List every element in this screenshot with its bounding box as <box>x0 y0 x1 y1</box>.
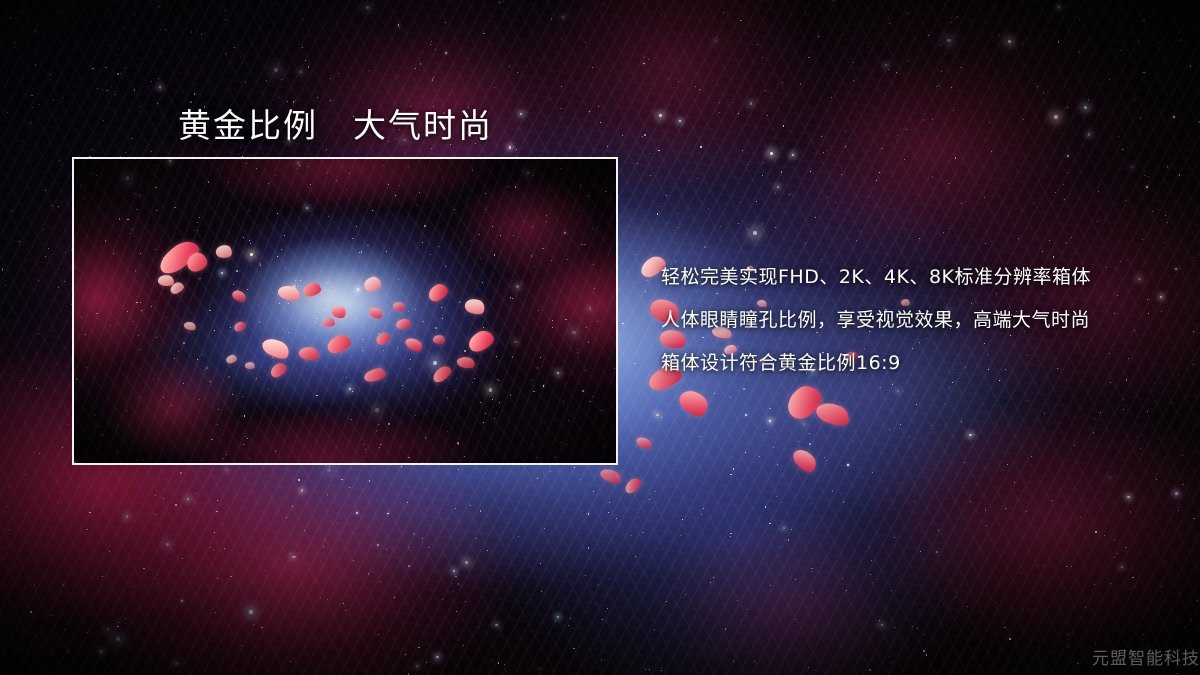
body-copy: 轻松完美实现FHD、2K、4K、8K标准分辨率箱体 人体眼睛瞳孔比例，享受视觉效… <box>661 256 1181 385</box>
framed-image-content <box>74 159 616 463</box>
page-title: 黄金比例 大气时尚 <box>178 99 493 147</box>
body-line-1: 轻松完美实现FHD、2K、4K、8K标准分辨率箱体 <box>661 256 1181 299</box>
watermark: 元盟智能科技 <box>1092 644 1200 669</box>
framed-vignette <box>74 159 616 463</box>
framed-image <box>72 157 618 465</box>
body-line-2: 人体眼睛瞳孔比例，享受视觉效果，高端大气时尚 <box>661 299 1181 342</box>
body-line-3: 箱体设计符合黄金比例16:9 <box>661 342 1181 385</box>
presentation-slide: 黄金比例 大气时尚 轻松完美实现FHD、2K、4K、8K标准分辨率箱体 人体眼睛… <box>0 0 1200 675</box>
